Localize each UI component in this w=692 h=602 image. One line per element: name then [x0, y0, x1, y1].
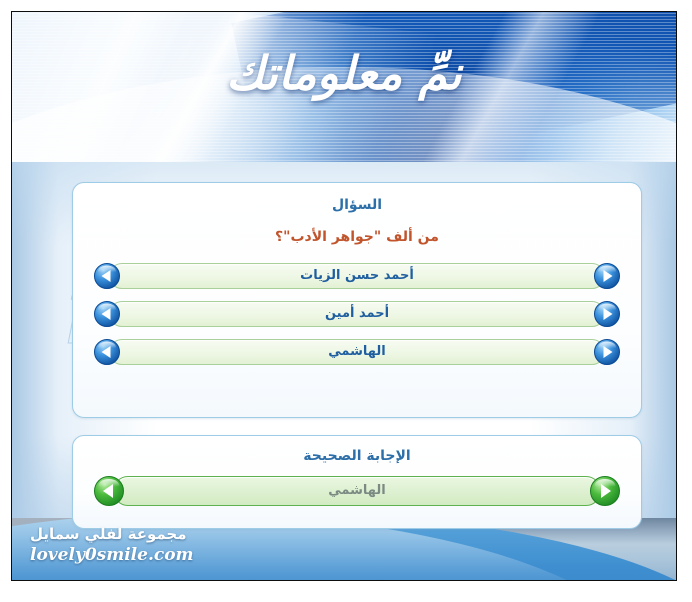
footer-arabic-text: مجموعة لفلي سمايل: [30, 524, 194, 544]
play-left-arrow-icon[interactable]: [93, 300, 121, 328]
option-label: الهاشمي: [95, 339, 619, 365]
play-right-arrow-icon[interactable]: [593, 338, 621, 366]
options-list: أحمد حسن الزيات: [73, 263, 641, 365]
question-card: السؤال من ألف "جواهر الأدب"؟ أحمد حسن ال…: [72, 182, 642, 418]
option-label: أحمد حسن الزيات: [95, 263, 619, 289]
header-banner: [12, 12, 676, 167]
question-card-title: السؤال: [73, 197, 641, 213]
option-label: أحمد أمين: [95, 301, 619, 327]
play-left-arrow-icon[interactable]: [93, 262, 121, 290]
option-row[interactable]: أحمد أمين: [95, 301, 619, 327]
correct-answer-label: الهاشمي: [97, 476, 617, 506]
answer-card-title: الإجابة الصحيحة: [73, 448, 641, 464]
play-left-arrow-green-icon[interactable]: [93, 475, 125, 507]
option-row[interactable]: أحمد حسن الزيات: [95, 263, 619, 289]
play-left-arrow-icon[interactable]: [93, 338, 121, 366]
app-frame: نمِّ معلوماتك lovely0smile.com السؤال من…: [11, 11, 677, 581]
question-text: من ألف "جواهر الأدب"؟: [73, 229, 641, 245]
correct-answer-row[interactable]: الهاشمي: [97, 476, 617, 506]
play-right-arrow-icon[interactable]: [593, 300, 621, 328]
option-row[interactable]: الهاشمي: [95, 339, 619, 365]
banner-scanline-stripes: [12, 12, 676, 167]
correct-answer-card: الإجابة الصحيحة الهاشمي: [72, 435, 642, 529]
play-right-arrow-green-icon[interactable]: [589, 475, 621, 507]
footer-branding: مجموعة لفلي سمايل lovely0smile.com: [30, 524, 194, 566]
play-right-arrow-icon[interactable]: [593, 262, 621, 290]
footer-site-url: lovely0smile.com: [30, 544, 194, 566]
